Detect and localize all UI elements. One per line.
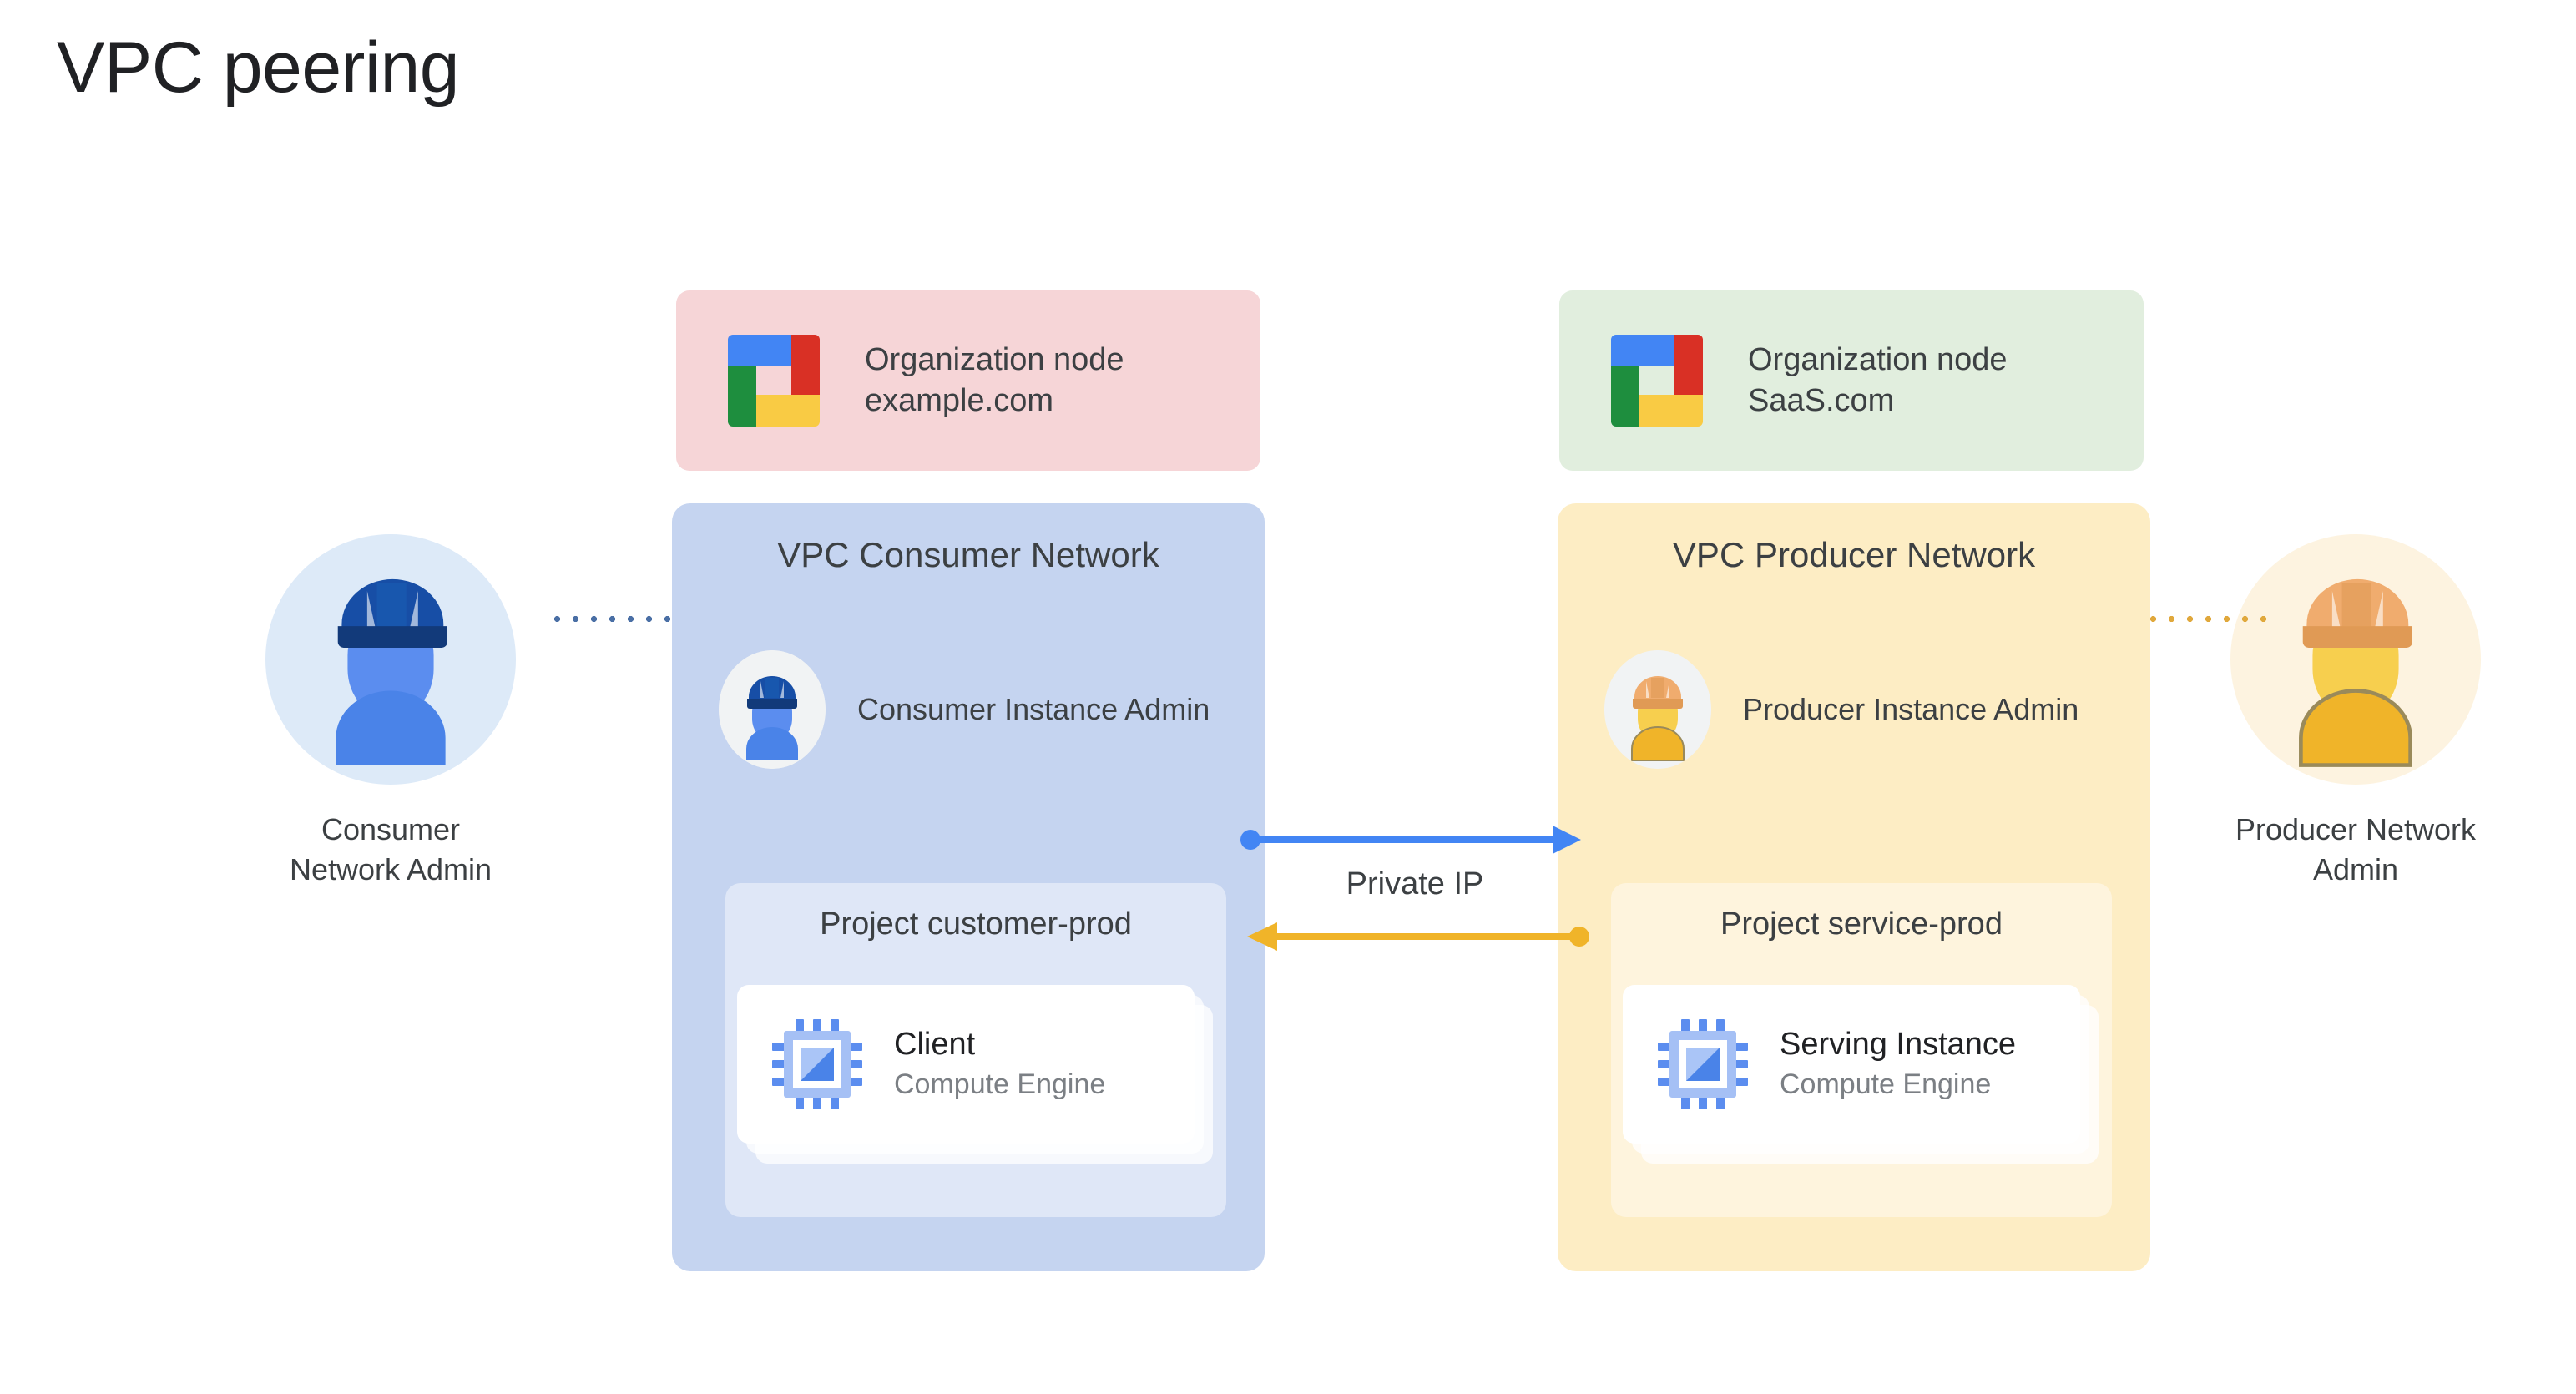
instance-name: Client xyxy=(894,1026,1105,1063)
consumer-instance-admin: Consumer Instance Admin xyxy=(719,650,1210,769)
compute-engine-chip-icon xyxy=(772,1019,862,1109)
org-node-producer-label: Organization node SaaS.com xyxy=(1748,340,2107,421)
instance-card-client[interactable]: Client Compute Engine xyxy=(737,985,1195,1144)
google-cloud-org-icon xyxy=(1611,335,1703,427)
producer-admin-connector xyxy=(2150,616,2272,622)
worker-avatar-blue-icon xyxy=(265,534,516,785)
instance-name: Serving Instance xyxy=(1780,1026,2016,1063)
vpc-producer-network-panel: VPC Producer Network Producer Instance A… xyxy=(1558,503,2150,1271)
org-node-consumer: Organization node example.com xyxy=(676,290,1260,471)
vpc-peering-connection: Private IP xyxy=(1244,818,1586,968)
compute-engine-chip-icon xyxy=(1658,1019,1748,1109)
page-title: VPC peering xyxy=(57,30,459,105)
org-node-producer: Organization node SaaS.com xyxy=(1559,290,2144,471)
consumer-network-admin: Consumer Network Admin xyxy=(265,534,516,889)
worker-avatar-amber-icon xyxy=(2230,534,2481,785)
google-cloud-org-icon xyxy=(728,335,820,427)
worker-avatar-blue-icon xyxy=(719,650,826,769)
producer-network-admin: Producer Network Admin xyxy=(2230,534,2481,889)
project-service-prod-panel: Project service-prod xyxy=(1611,883,2112,1217)
private-ip-label: Private IP xyxy=(1244,866,1586,902)
org-node-consumer-label: Organization node example.com xyxy=(865,340,1224,421)
producer-instance-admin: Producer Instance Admin xyxy=(1604,650,2078,769)
vpc-consumer-network-panel: VPC Consumer Network Consumer Instance A… xyxy=(672,503,1265,1271)
project-service-prod-title: Project service-prod xyxy=(1611,907,2112,942)
consumer-admin-connector xyxy=(554,616,676,622)
consumer-instance-admin-label: Consumer Instance Admin xyxy=(857,689,1210,730)
worker-avatar-amber-icon xyxy=(1604,650,1711,769)
vpc-consumer-network-title: VPC Consumer Network xyxy=(672,535,1265,575)
producer-instance-admin-label: Producer Instance Admin xyxy=(1743,689,2078,730)
instance-card-stack: Client Compute Engine xyxy=(737,985,1205,1160)
producer-network-admin-label: Producer Network Admin xyxy=(2230,810,2481,889)
instance-service: Compute Engine xyxy=(894,1067,1105,1103)
project-customer-prod-panel: Project customer-prod xyxy=(725,883,1226,1217)
project-customer-prod-title: Project customer-prod xyxy=(725,907,1226,942)
consumer-network-admin-label: Consumer Network Admin xyxy=(265,810,516,889)
instance-service: Compute Engine xyxy=(1780,1067,2016,1103)
instance-card-serving-instance[interactable]: Serving Instance Compute Engine xyxy=(1623,985,2080,1144)
vpc-producer-network-title: VPC Producer Network xyxy=(1558,535,2150,575)
instance-card-stack: Serving Instance Compute Engine xyxy=(1623,985,2090,1160)
private-ip-response-arrow xyxy=(1247,922,1589,951)
private-ip-request-arrow xyxy=(1240,826,1581,854)
